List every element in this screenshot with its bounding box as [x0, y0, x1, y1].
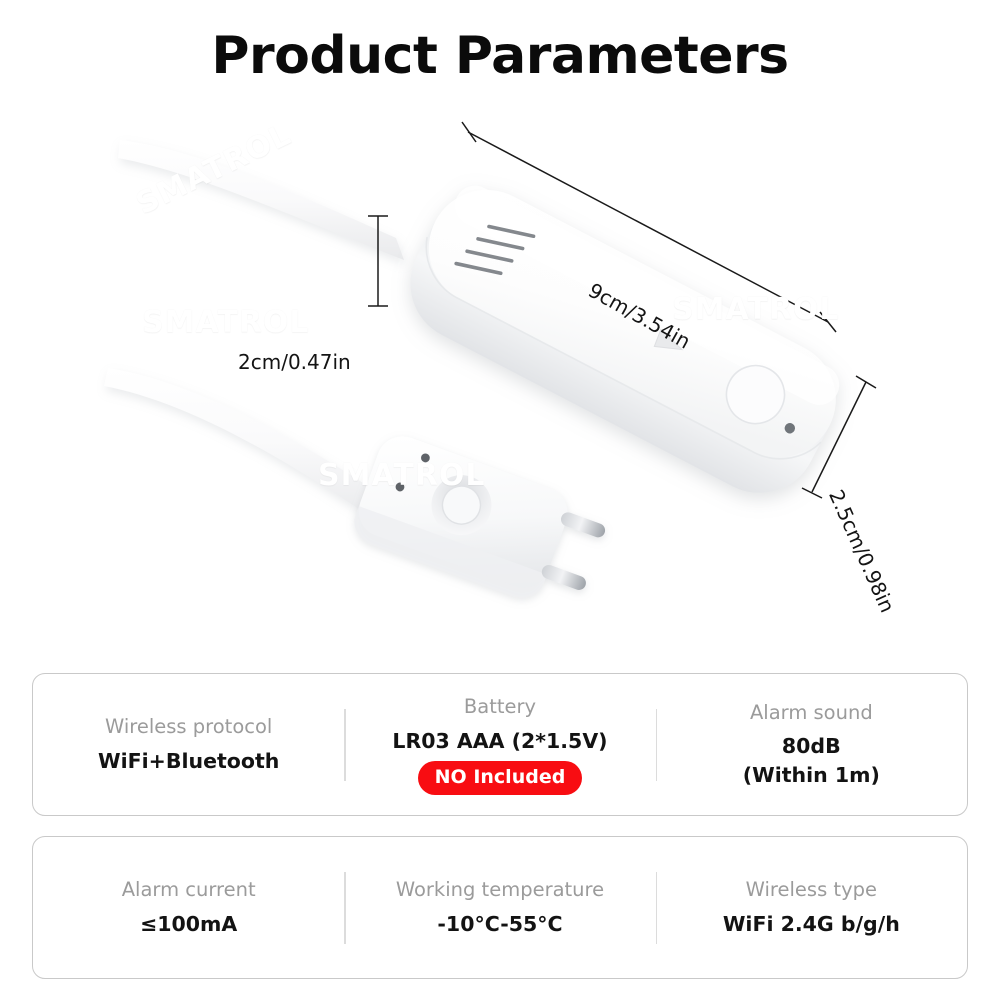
page-title: Product Parameters [0, 22, 1000, 90]
spec-value: WiFi+Bluetooth [98, 746, 279, 776]
spec-value: -10°C-55°C [437, 909, 562, 939]
spec-value: 80dB [782, 732, 841, 761]
dimension-label-height: 2cm/0.47in [238, 350, 351, 374]
cable-lower [104, 368, 392, 522]
spec-cell-battery: Battery LR03 AAA (2*1.5V) NO Included [344, 674, 655, 815]
sensor-probe [348, 429, 613, 618]
spec-value: LR03 AAA (2*1.5V) [392, 726, 607, 756]
spec-cell-alarm-sound: Alarm sound 80dB (Within 1m) [656, 674, 967, 815]
product-illustration [0, 110, 1000, 655]
spec-label: Wireless type [746, 877, 877, 903]
spec-card-1: Wireless protocol WiFi+Bluetooth Battery… [32, 673, 968, 816]
spec-cell-alarm-current: Alarm current ≤100mA [33, 837, 344, 978]
status-badge: NO Included [418, 761, 583, 795]
spec-cell-wireless-type: Wireless type WiFi 2.4G b/g/h [656, 837, 967, 978]
spec-value-second-line: (Within 1m) [743, 761, 880, 790]
spec-label: Alarm sound [750, 700, 873, 726]
spec-card-2: Alarm current ≤100mA Working temperature… [32, 836, 968, 979]
spec-cell-working-temperature: Working temperature -10°C-55°C [344, 837, 655, 978]
spec-label: Working temperature [396, 877, 604, 903]
spec-cell-wireless-protocol: Wireless protocol WiFi+Bluetooth [33, 674, 344, 815]
product-parameters-page: Product Parameters [0, 0, 1000, 1000]
spec-label: Battery [464, 694, 536, 720]
spec-label: Alarm current [122, 877, 256, 903]
spec-value: WiFi 2.4G b/g/h [723, 909, 900, 939]
cable-upper [118, 140, 404, 260]
product-photo: SMATROL SMATROL SMATROL SMATROL 2cm/0.47… [0, 110, 1000, 655]
spec-value: ≤100mA [140, 909, 237, 939]
spec-label: Wireless protocol [105, 714, 272, 740]
